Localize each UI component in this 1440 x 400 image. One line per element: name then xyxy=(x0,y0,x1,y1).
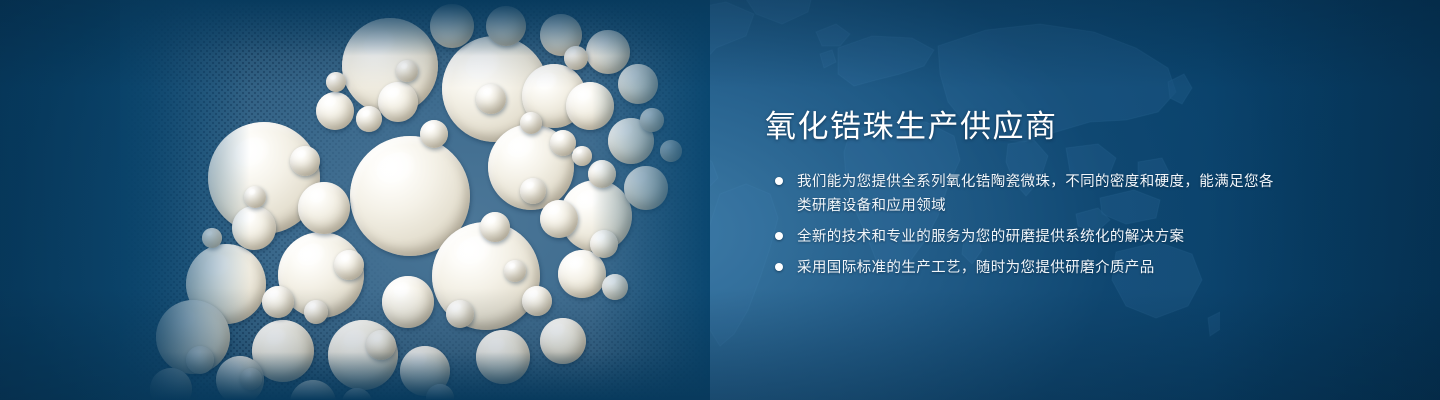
list-item: 全新的技术和专业的服务为您的研磨提供系统化的解决方案 xyxy=(765,225,1285,249)
list-item: 采用国际标准的生产工艺，随时为您提供研磨介质产品 xyxy=(765,256,1285,280)
bullet-dot-icon xyxy=(775,177,783,185)
banner-copy: 氧化锆珠生产供应商 我们能为您提供全系列氧化锆陶瓷微珠，不同的密度和硬度，能满足… xyxy=(765,108,1285,287)
bullet-dot-icon xyxy=(775,263,783,271)
bullet-dot-icon xyxy=(775,232,783,240)
feature-list: 我们能为您提供全系列氧化锆陶瓷微珠，不同的密度和硬度，能满足您各类研磨设备和应用… xyxy=(765,170,1285,280)
hero-banner: 氧化锆珠生产供应商 我们能为您提供全系列氧化锆陶瓷微珠，不同的密度和硬度，能满足… xyxy=(0,0,1440,400)
page-title: 氧化锆珠生产供应商 xyxy=(765,108,1285,146)
list-item-text: 全新的技术和专业的服务为您的研磨提供系统化的解决方案 xyxy=(797,225,1184,249)
list-item-text: 采用国际标准的生产工艺，随时为您提供研磨介质产品 xyxy=(797,256,1155,280)
list-item-text: 我们能为您提供全系列氧化锆陶瓷微珠，不同的密度和硬度，能满足您各类研磨设备和应用… xyxy=(797,170,1285,218)
list-item: 我们能为您提供全系列氧化锆陶瓷微珠，不同的密度和硬度，能满足您各类研磨设备和应用… xyxy=(765,170,1285,218)
